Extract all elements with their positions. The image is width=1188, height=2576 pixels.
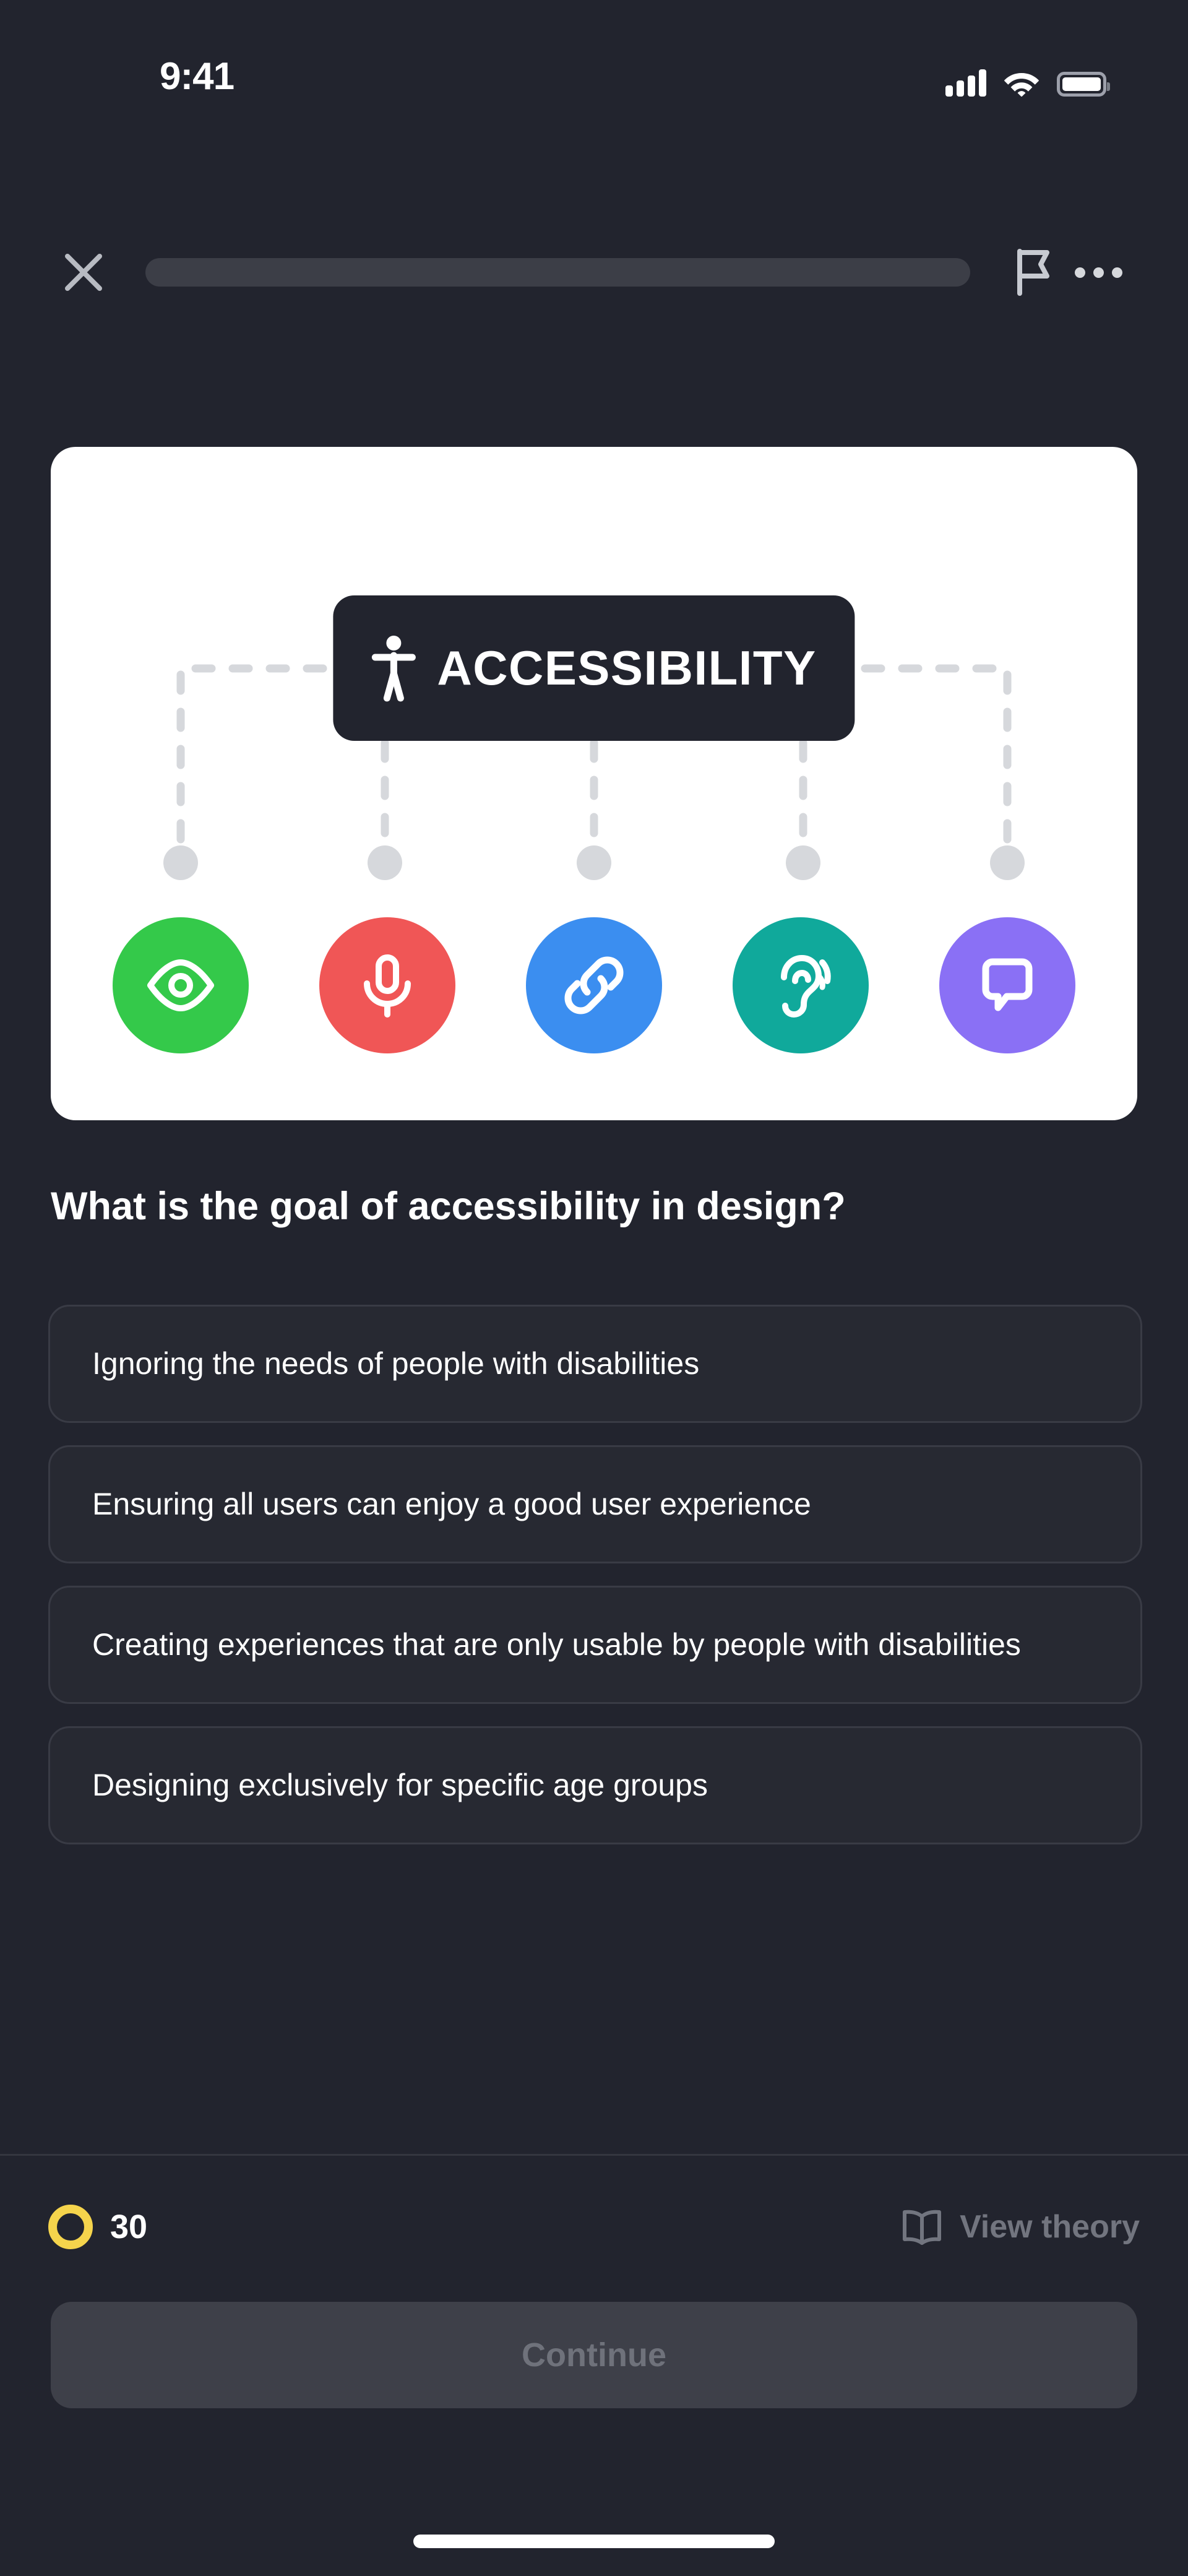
node-speech[interactable] xyxy=(319,917,455,1053)
status-bar: 9:41 xyxy=(0,0,1188,155)
coin-balance: 30 xyxy=(48,2205,147,2249)
accessibility-diagram: ACCESSIBILITY xyxy=(51,447,1137,1120)
accessibility-badge: ACCESSIBILITY xyxy=(333,595,854,741)
ear-hearing-icon xyxy=(764,949,837,1022)
flag-icon xyxy=(1015,249,1052,296)
coin-count-label: 30 xyxy=(110,2208,147,2246)
status-bar-time: 9:41 xyxy=(160,54,234,98)
more-options-icon xyxy=(1093,267,1104,278)
bottom-meta-row: 30 View theory xyxy=(48,2193,1140,2261)
eye-icon xyxy=(144,949,217,1022)
lesson-illustration-card: ACCESSIBILITY xyxy=(51,447,1137,1120)
answer-options-list: Ignoring the needs of people with disabi… xyxy=(48,1305,1142,1867)
book-icon xyxy=(902,2209,942,2245)
accessibility-badge-label: ACCESSIBILITY xyxy=(437,640,816,696)
microphone-icon xyxy=(351,949,424,1022)
accessibility-node-row xyxy=(113,917,1075,1053)
answer-option[interactable]: Designing exclusively for specific age g… xyxy=(48,1726,1142,1844)
node-communication[interactable] xyxy=(939,917,1075,1053)
question-text: What is the goal of accessibility in des… xyxy=(51,1183,1140,1230)
answer-option[interactable]: Creating experiences that are only usabl… xyxy=(48,1586,1142,1704)
view-theory-button[interactable]: View theory xyxy=(902,2208,1140,2245)
continue-button[interactable]: Continue xyxy=(51,2302,1137,2408)
battery-full-icon xyxy=(1057,72,1106,97)
more-options-icon xyxy=(1075,267,1085,278)
wifi-icon xyxy=(1004,69,1039,97)
accessibility-person-icon xyxy=(371,635,416,702)
node-hearing[interactable] xyxy=(733,917,869,1053)
chat-bubble-icon xyxy=(971,949,1044,1022)
answer-option[interactable]: Ignoring the needs of people with disabi… xyxy=(48,1305,1142,1423)
more-options-button[interactable] xyxy=(1064,244,1132,300)
more-options-icon xyxy=(1112,267,1122,278)
coin-icon xyxy=(48,2205,93,2249)
cellular-signal-icon xyxy=(945,69,986,97)
top-nav-bar xyxy=(0,229,1188,316)
view-theory-label: View theory xyxy=(960,2208,1140,2245)
lesson-progress-bar xyxy=(145,258,970,287)
node-vision[interactable] xyxy=(113,917,249,1053)
link-icon xyxy=(557,949,631,1022)
node-link[interactable] xyxy=(526,917,662,1053)
status-bar-icons xyxy=(945,59,1106,97)
answer-option[interactable]: Ensuring all users can enjoy a good user… xyxy=(48,1445,1142,1563)
home-indicator xyxy=(413,2535,775,2548)
close-icon xyxy=(64,253,103,292)
bottom-action-bar: 30 View theory Continue xyxy=(0,2154,1188,2576)
quiz-screen: 9:41 xyxy=(0,0,1188,2576)
close-button[interactable] xyxy=(56,244,111,300)
report-flag-button[interactable] xyxy=(1002,241,1064,303)
